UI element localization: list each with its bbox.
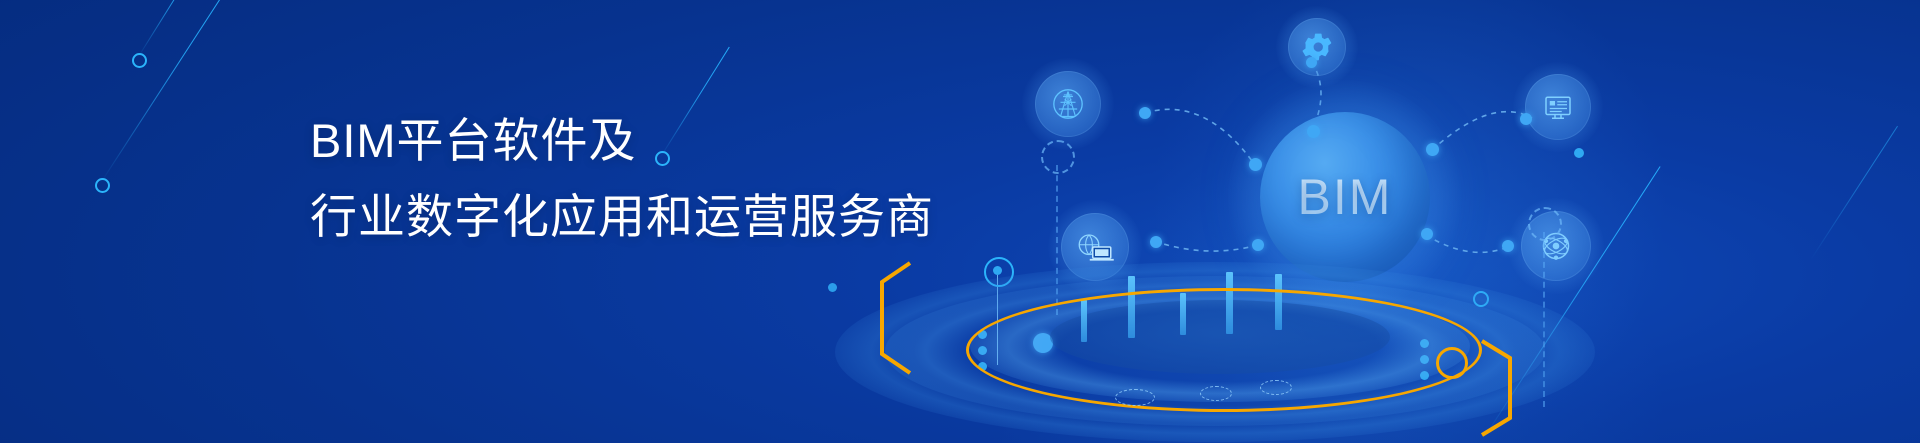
bim-illustration: BIM (860, 0, 1920, 443)
text-side-dot (828, 283, 837, 292)
hero-banner: BIM平台软件及 行业数字化应用和运营服务商 BIM (0, 0, 1920, 443)
orbit-dash-ellipse-2 (1200, 386, 1232, 401)
monitor-connector-dot (1520, 113, 1532, 125)
decor-line-1 (100, 0, 237, 184)
orbit-dash-ellipse-1 (1115, 389, 1155, 406)
bim-sphere: BIM (1260, 112, 1430, 282)
network-connector-dot (1502, 240, 1514, 252)
bim-label: BIM (1260, 112, 1430, 282)
bracket-left-icon (876, 260, 912, 376)
tower-connector-dot (1139, 107, 1151, 119)
bracket-left (876, 260, 912, 376)
gear-node[interactable] (1288, 18, 1346, 76)
dashed-stem-left-cap (1041, 140, 1075, 174)
sphere-dot-lower-left (1252, 239, 1264, 251)
sphere-dot-upper-right (1426, 143, 1439, 156)
gear-icon (1301, 31, 1333, 63)
globe-laptop-icon (1074, 230, 1116, 264)
decor-ring-1 (95, 178, 110, 193)
power-tower-node[interactable] (1035, 71, 1101, 137)
decor-ring-2 (132, 53, 147, 68)
decor-line-2 (137, 0, 202, 59)
globe-connector-dot (1150, 236, 1162, 248)
monitor-icon (1540, 89, 1576, 125)
orbit-dash-ellipse-3 (1260, 380, 1292, 395)
bracket-right-icon (1480, 338, 1516, 438)
headline-block: BIM平台软件及 行业数字化应用和运营服务商 (310, 112, 934, 246)
dashed-stem-right-cap (1528, 207, 1562, 241)
solid-stem-cap-dot (993, 266, 1002, 275)
bracket-right (1480, 338, 1516, 438)
orange-accent-circle (1436, 347, 1468, 379)
sphere-dot-lower-right (1421, 228, 1433, 240)
sphere-dot-upper-left (1249, 158, 1262, 171)
monitor-node[interactable] (1525, 74, 1591, 140)
monitor-satellite-dot (1574, 148, 1584, 158)
gear-connector-dot-outer (1306, 57, 1317, 68)
headline-line-1: BIM平台软件及 (310, 112, 934, 170)
power-tower-icon (1048, 84, 1088, 124)
gear-connector-dot-inner (1307, 125, 1320, 138)
headline-line-2: 行业数字化应用和运营服务商 (310, 188, 934, 246)
